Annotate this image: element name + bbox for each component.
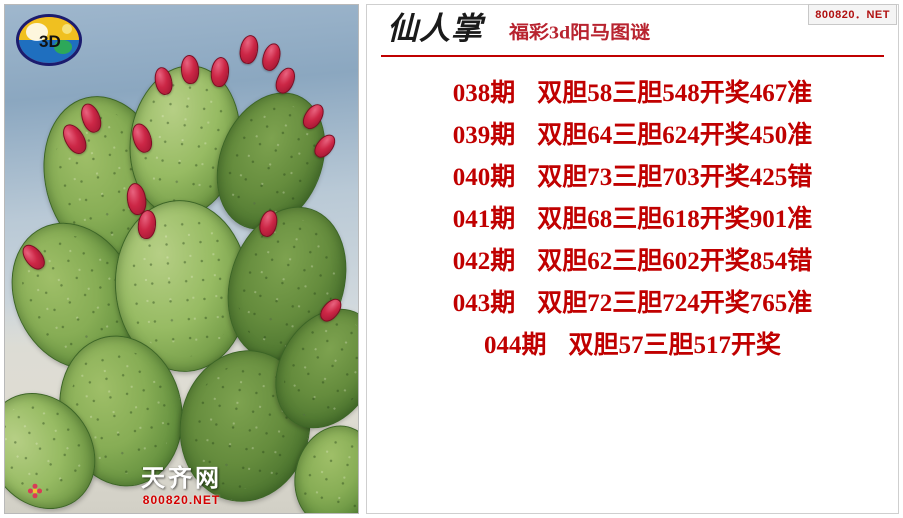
prediction-list-panel: 仙人掌 福彩3d阳马图谜 038期 双胆58三胆548开奖467准 039期 双… bbox=[366, 4, 899, 514]
watermark-chinese-text: 天齐网 bbox=[141, 467, 222, 491]
page-title: 仙人掌 bbox=[387, 13, 483, 44]
issue-number: 044期 bbox=[484, 325, 547, 361]
list-item: 038期 双胆58三胆548开奖467准 bbox=[367, 73, 898, 115]
issue-number: 042期 bbox=[453, 241, 516, 277]
flower-icon bbox=[27, 483, 43, 499]
prediction-text: 双胆57三胆517开奖 bbox=[569, 325, 782, 361]
issue-number: 040期 bbox=[453, 157, 516, 193]
prediction-text: 双胆64三胆624开奖450准 bbox=[537, 115, 812, 151]
issue-number: 043期 bbox=[453, 283, 516, 319]
prediction-text: 双胆58三胆548开奖467准 bbox=[537, 73, 812, 109]
issue-number: 039期 bbox=[453, 115, 516, 151]
page-root: 800820．NET bbox=[0, 0, 903, 518]
watermark-site-text: 800820.NET bbox=[141, 493, 222, 507]
site-tag: 800820．NET bbox=[808, 4, 897, 25]
photo-watermark: 天齐网 800820.NET bbox=[141, 467, 222, 507]
issue-number: 038期 bbox=[453, 73, 516, 109]
logo-text: 3D bbox=[39, 32, 61, 51]
issue-number: 041期 bbox=[453, 199, 516, 235]
photo-panel: 天齐网 800820.NET 3D bbox=[4, 4, 359, 514]
list-item: 043期 双胆72三胆724开奖765准 bbox=[367, 283, 898, 325]
prediction-text: 双胆62三胆602开奖854错 bbox=[537, 241, 812, 277]
prediction-text: 双胆72三胆724开奖765准 bbox=[537, 283, 812, 319]
prediction-rows: 038期 双胆58三胆548开奖467准 039期 双胆64三胆624开奖450… bbox=[367, 57, 898, 367]
list-item: 042期 双胆62三胆602开奖854错 bbox=[367, 241, 898, 283]
circular-colorful-logo: 3D bbox=[15, 13, 83, 69]
list-item: 039期 双胆64三胆624开奖450准 bbox=[367, 115, 898, 157]
list-item: 041期 双胆68三胆618开奖901准 bbox=[367, 199, 898, 241]
prediction-text: 双胆73三胆703开奖425错 bbox=[537, 157, 812, 193]
prediction-text: 双胆68三胆618开奖901准 bbox=[537, 199, 812, 235]
page-subtitle: 福彩3d阳马图谜 bbox=[509, 24, 650, 42]
list-item: 040期 双胆73三胆703开奖425错 bbox=[367, 157, 898, 199]
list-item: 044期 双胆57三胆517开奖 bbox=[367, 325, 898, 367]
